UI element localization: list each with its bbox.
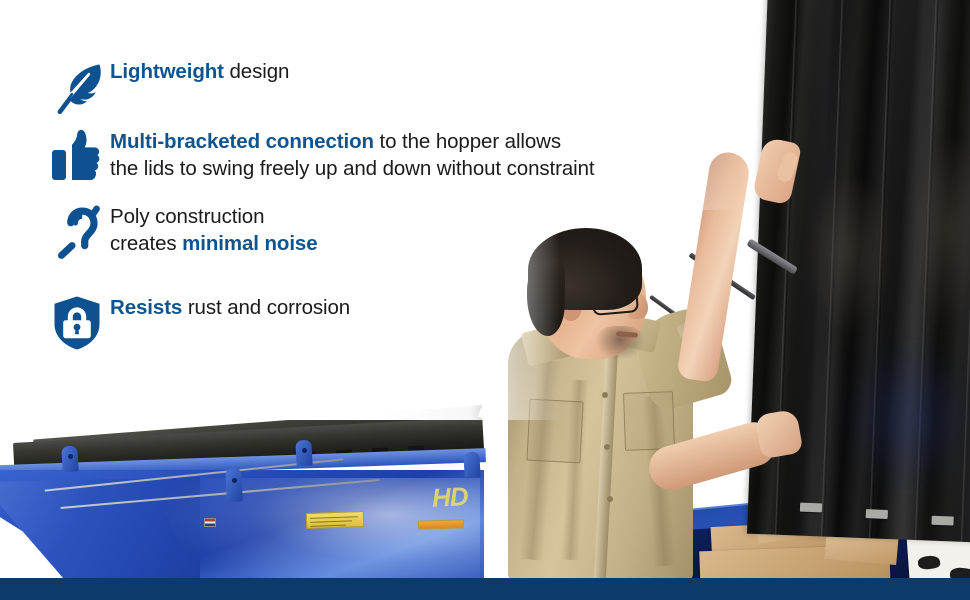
feature-rest: design (224, 60, 289, 83)
warning-label-line (310, 520, 352, 522)
feature-item-rust-resistant[interactable]: Resists rust and corrosion (44, 294, 350, 352)
lid-hinge-bracket (61, 445, 79, 472)
shield-lock-icon (44, 294, 110, 352)
feature-text-multi-bracketed: Multi-bracketed connection to the hopper… (110, 128, 595, 182)
lid-hinge-bracket (225, 468, 243, 503)
warning-label (306, 511, 365, 529)
lid-hinge-bracket (295, 440, 312, 467)
feature-text-rust-resistant: Resists rust and corrosion (110, 294, 350, 321)
feature-item-minimal-noise[interactable]: Poly construction creates minimal noise (44, 203, 318, 261)
warning-label (418, 519, 464, 530)
feature-rest: rust and corrosion (182, 296, 350, 319)
hinge-hole (302, 448, 307, 453)
warning-label-line (310, 525, 346, 527)
lid-reflection (841, 339, 970, 494)
feature-text-lightweight: Lightweight design (110, 58, 289, 85)
flag-decal (204, 518, 216, 527)
feature-item-lightweight[interactable]: Lightweight design (44, 58, 289, 114)
feature-highlight: Multi-bracketed connection (110, 130, 374, 153)
feature-rest: the lids to swing freely up and down wit… (110, 157, 595, 180)
lid-foot (800, 503, 822, 513)
hinge-hole (232, 478, 237, 483)
shirt-button (602, 392, 608, 398)
ear-hearing-icon (44, 203, 110, 261)
feature-rest: to the hopper allows (374, 130, 561, 153)
feature-rest: creates (110, 232, 182, 255)
shirt-pocket (623, 391, 675, 451)
hopper-decal-hd: HD (431, 481, 468, 514)
hinge-hole (68, 454, 73, 459)
shirt-button (607, 496, 613, 502)
feature-item-multi-bracketed[interactable]: Multi-bracketed connection to the hopper… (44, 128, 595, 184)
poly-lid-open (747, 0, 970, 543)
bottom-accent-bar (0, 578, 970, 600)
feature-highlight: minimal noise (182, 232, 317, 255)
lid-foot (866, 509, 888, 519)
thumbs-up-icon (44, 128, 110, 184)
product-feature-banner: HD Lightweight design (0, 0, 970, 600)
feature-highlight: Resists (110, 296, 182, 319)
feature-highlight: Lightweight (110, 60, 224, 83)
feature-text-minimal-noise: Poly construction creates minimal noise (110, 203, 318, 257)
warning-label-line (310, 516, 358, 519)
shirt-button (604, 444, 610, 450)
lid-foot (931, 516, 953, 526)
lid-hinge-bracket (463, 452, 480, 479)
feature-rest: Poly construction (110, 205, 264, 228)
feather-icon (44, 58, 110, 114)
